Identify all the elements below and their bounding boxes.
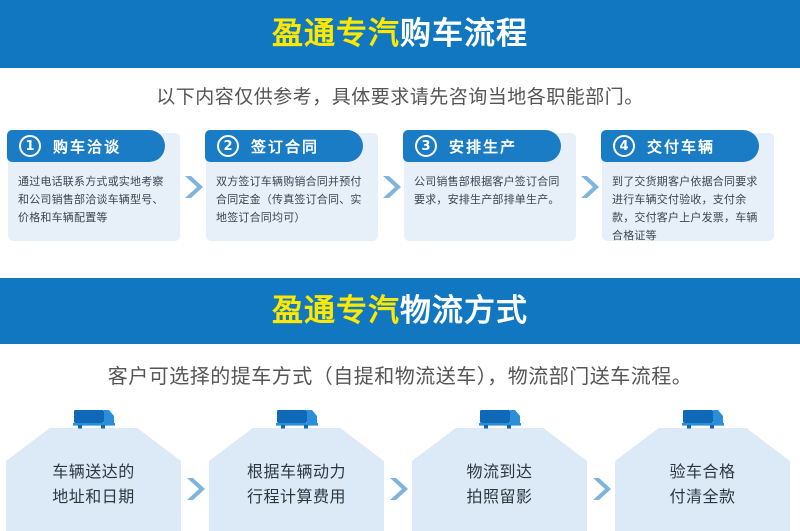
purchase-step-card-2[interactable]: 2 签订合同 双方签订车辆购销合同并预付合同定金（传真签订合同、实地签订合同均可… (206, 133, 378, 241)
logistics-text-1: 车辆送达的 地址和日期 (6, 460, 181, 510)
chevron-right-icon-2 (378, 133, 404, 241)
purchase-step-header-1: 1 购车洽谈 (7, 130, 165, 162)
purchase-banner: 盈通专汽购车流程 (0, 0, 800, 68)
logistics-line2-2: 行程计算费用 (209, 485, 384, 510)
logistics-banner-heading: 物流方式 (400, 293, 528, 329)
logistics-caption: 客户可选择的提车方式（自提和物流送车），物流部门送车流程。 (0, 360, 800, 389)
purchase-step-header-2: 2 签订合同 (205, 130, 363, 162)
chevron-right-icon-1 (180, 133, 206, 241)
purchase-step-title-3: 安排生产 (449, 136, 517, 157)
purchase-step-card-4[interactable]: 4 交付车辆 到了交货期客户依据合同要求进行车辆交付验收，支付余款，交付客户上户… (602, 133, 774, 241)
infographic-page: 盈通专汽购车流程 以下内容仅供参考，具体要求请先咨询当地各职能部门。 1 购车洽… (0, 0, 800, 531)
truck-icon-3 (477, 408, 523, 434)
logistics-step-1[interactable]: 车辆送达的 地址和日期 (6, 408, 181, 531)
purchase-step-card-1[interactable]: 1 购车洽谈 通过电话联系方式或实地考察和公司销售部洽谈车辆型号、价格和车辆配置… (8, 133, 180, 241)
logistics-line1-4: 验车合格 (615, 460, 790, 485)
logistics-line2-1: 地址和日期 (6, 485, 181, 510)
purchase-step-number-2: 2 (217, 135, 239, 157)
purchase-step-header-3: 3 安排生产 (403, 130, 561, 162)
logistics-step-2[interactable]: 根据车辆动力 行程计算费用 (209, 408, 384, 531)
purchase-step-card-3[interactable]: 3 安排生产 公司销售部根据客户签订合同要求，安排生产部排单生产。 (404, 133, 576, 241)
logistics-line2-3: 拍照留影 (412, 485, 587, 510)
truck-icon-2 (274, 408, 320, 434)
logistics-line1-3: 物流到达 (412, 460, 587, 485)
logistics-banner-title: 盈通专汽物流方式 (272, 296, 528, 327)
logistics-line2-4: 付清全款 (615, 485, 790, 510)
purchase-caption: 以下内容仅供参考，具体要求请先咨询当地各职能部门。 (0, 82, 800, 109)
logistics-step-3[interactable]: 物流到达 拍照留影 (412, 408, 587, 531)
logistics-text-2: 根据车辆动力 行程计算费用 (209, 460, 384, 510)
purchase-banner-heading: 购车流程 (400, 16, 528, 52)
purchase-step-title-1: 购车洽谈 (53, 136, 121, 157)
logistics-line1-1: 车辆送达的 (6, 460, 181, 485)
logistics-banner: 盈通专汽物流方式 (0, 278, 800, 344)
truck-icon-1 (71, 408, 117, 434)
logistics-text-4: 验车合格 付清全款 (615, 460, 790, 510)
purchase-banner-brand: 盈通专汽 (272, 16, 400, 52)
chevron-right-icon-5 (384, 408, 412, 531)
chevron-right-icon-6 (587, 408, 615, 531)
purchase-step-body-4: 到了交货期客户依据合同要求进行车辆交付验收，支付余款，交付客户上户发票，车辆合格… (612, 173, 765, 246)
purchase-step-title-4: 交付车辆 (647, 136, 715, 157)
logistics-step-4[interactable]: 验车合格 付清全款 (615, 408, 790, 531)
purchase-banner-title: 盈通专汽购车流程 (272, 19, 528, 50)
purchase-step-header-4: 4 交付车辆 (601, 130, 759, 162)
logistics-steps-row: 车辆送达的 地址和日期 根据车辆动力 行程计算费用 (6, 408, 794, 531)
purchase-step-body-1: 通过电话联系方式或实地考察和公司销售部洽谈车辆型号、价格和车辆配置等 (18, 173, 171, 227)
chevron-right-icon-3 (576, 133, 602, 241)
logistics-banner-brand: 盈通专汽 (272, 293, 400, 329)
truck-icon-4 (680, 408, 726, 434)
purchase-step-number-1: 1 (19, 135, 41, 157)
purchase-step-title-2: 签订合同 (251, 136, 319, 157)
purchase-step-number-4: 4 (613, 135, 635, 157)
purchase-step-number-3: 3 (415, 135, 437, 157)
purchase-step-body-2: 双方签订车辆购销合同并预付合同定金（传真签订合同、实地签订合同均可） (216, 173, 369, 227)
purchase-step-body-3: 公司销售部根据客户签订合同要求，安排生产部排单生产。 (414, 173, 567, 209)
logistics-text-3: 物流到达 拍照留影 (412, 460, 587, 510)
purchase-steps-row: 1 购车洽谈 通过电话联系方式或实地考察和公司销售部洽谈车辆型号、价格和车辆配置… (8, 133, 792, 245)
logistics-line1-2: 根据车辆动力 (209, 460, 384, 485)
chevron-right-icon-4 (181, 408, 209, 531)
